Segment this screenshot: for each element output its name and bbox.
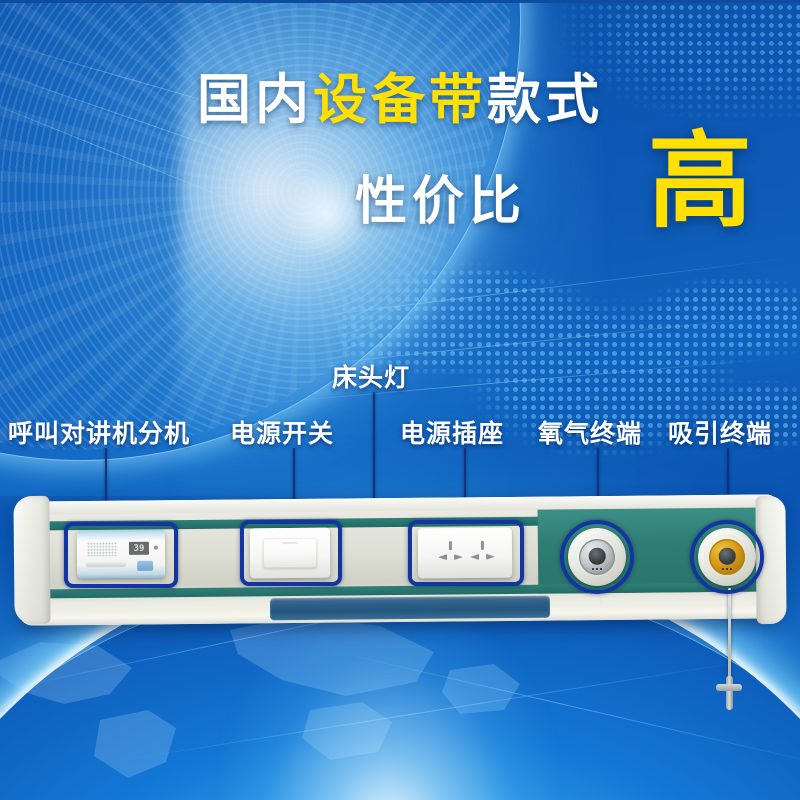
callout-label-bed-lamp: 床头灯	[332, 358, 410, 394]
highlight-circle-suction-terminal	[690, 520, 764, 594]
callout-label-oxygen-terminal: 氧气终端	[538, 414, 642, 450]
cross-vertical-bar	[726, 676, 733, 710]
callout-label-nurse-call-intercom: 呼叫对讲机分机	[8, 414, 190, 450]
highlight-box-nurse-call-intercom	[64, 522, 178, 588]
panel-end-cap-left	[13, 496, 50, 624]
cross-horizontal-bar	[716, 684, 742, 691]
highlight-box-power-switch	[240, 520, 342, 586]
highlight-circle-oxygen-terminal	[560, 520, 634, 594]
highlight-box-power-outlet	[408, 520, 524, 586]
lanyard-cross-weight-icon	[716, 676, 742, 710]
callout-label-power-outlet: 电源插座	[400, 414, 504, 450]
callout-label-power-switch: 电源开关	[230, 414, 334, 450]
bed-lamp-diffuser[interactable]	[270, 596, 550, 621]
callout-layer: 呼叫对讲机分机 电源开关 床头灯 电源插座 氧气终端 吸引终端	[0, 0, 800, 800]
callout-label-suction-terminal: 吸引终端	[668, 414, 772, 450]
